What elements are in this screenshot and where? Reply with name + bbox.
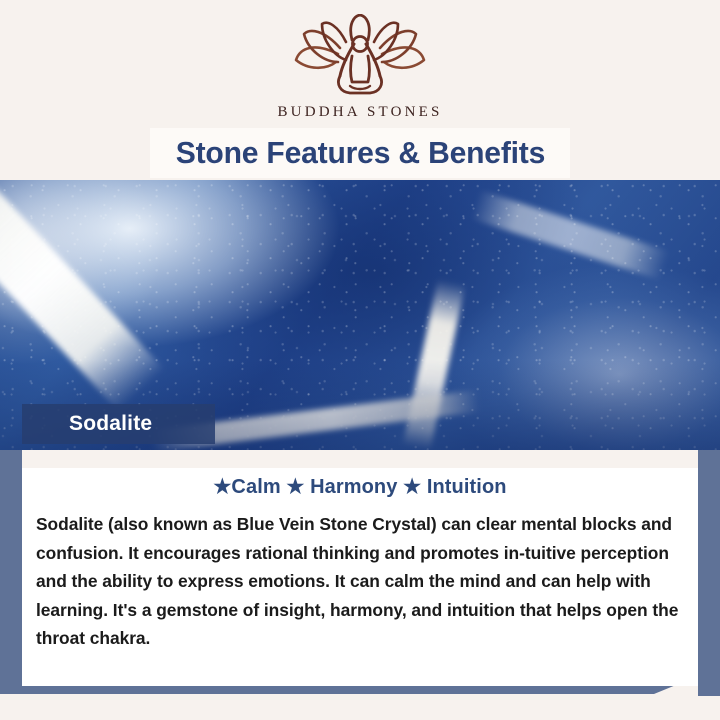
stone-name: Sodalite xyxy=(69,412,152,436)
poster-header: BUDDHA STONES Stone Features & Benefits xyxy=(0,0,720,180)
brand-wordmark: BUDDHA STONES xyxy=(0,104,720,121)
content-top-strip xyxy=(22,450,698,468)
brand-logo: BUDDHA STONES xyxy=(0,14,720,121)
stone-name-bar: Sodalite xyxy=(22,404,215,444)
stone-keywords: ★Calm ★ Harmony ★ Intuition xyxy=(22,474,698,499)
content-panel: ★Calm ★ Harmony ★ Intuition Sodalite (al… xyxy=(22,468,698,686)
title-banner: Stone Features & Benefits xyxy=(150,128,570,178)
page-title: Stone Features & Benefits xyxy=(175,135,544,171)
stone-info-poster: BUDDHA STONES Stone Features & Benefits … xyxy=(0,0,720,720)
lotus-meditation-icon xyxy=(280,14,440,102)
stone-description: Sodalite (also known as Blue Vein Stone … xyxy=(36,510,688,653)
